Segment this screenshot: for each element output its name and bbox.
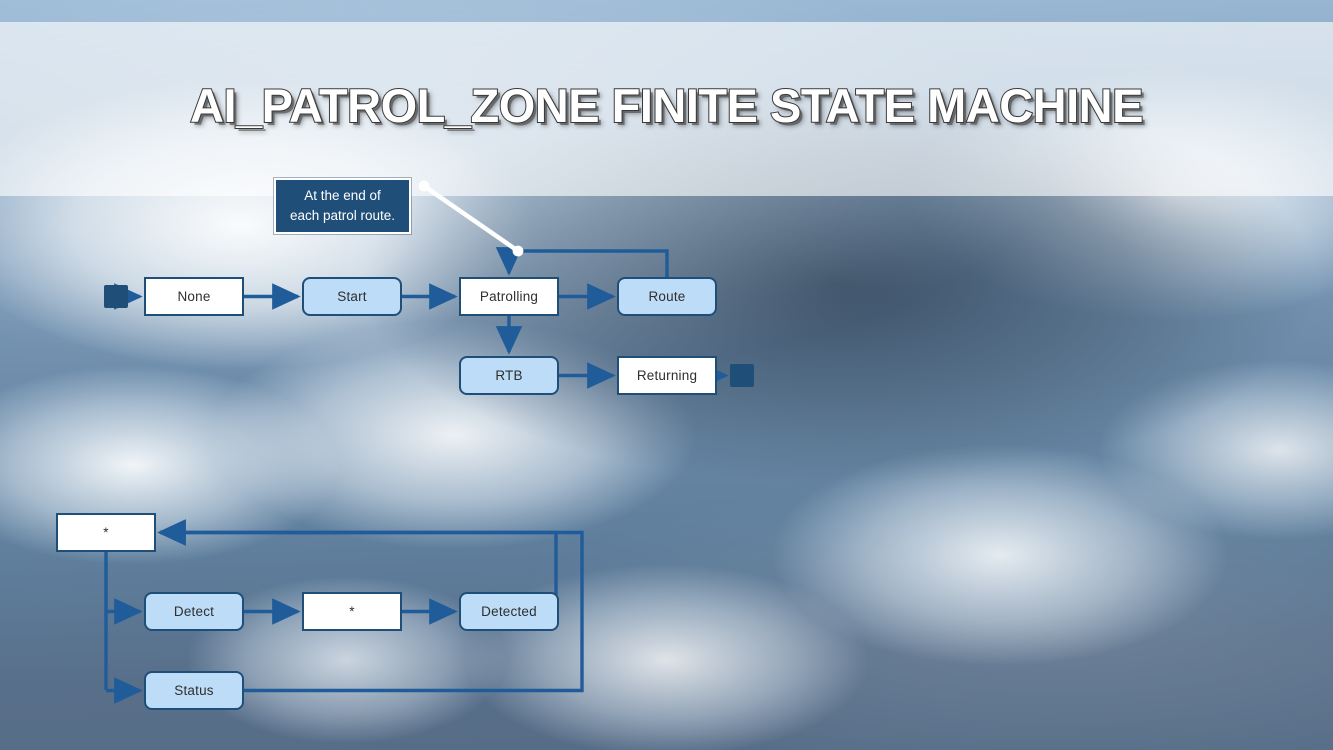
state-label: Status bbox=[174, 683, 213, 698]
exit-marker bbox=[730, 364, 754, 387]
state-label: Route bbox=[648, 289, 685, 304]
state-label: Detected bbox=[481, 604, 537, 619]
entry-marker bbox=[104, 285, 128, 308]
page-title: AI_PATROL_ZONE FINITE STATE MACHINE bbox=[0, 78, 1333, 133]
state-label: Patrolling bbox=[480, 289, 538, 304]
state-label: Returning bbox=[637, 368, 697, 383]
state-label: RTB bbox=[495, 368, 522, 383]
state-node-none[interactable]: None bbox=[144, 277, 244, 316]
state-node-any-state[interactable]: * bbox=[56, 513, 156, 552]
state-node-route[interactable]: Route bbox=[617, 277, 717, 316]
state-node-start[interactable]: Start bbox=[302, 277, 402, 316]
state-node-detected[interactable]: Detected bbox=[459, 592, 559, 631]
state-node-status[interactable]: Status bbox=[144, 671, 244, 710]
state-label: Detect bbox=[174, 604, 214, 619]
callout-note[interactable]: At the end of each patrol route. bbox=[274, 178, 411, 234]
callout-line-2: each patrol route. bbox=[284, 206, 401, 226]
state-label: * bbox=[103, 525, 108, 540]
state-label: Start bbox=[337, 289, 367, 304]
state-node-any-target[interactable]: * bbox=[302, 592, 402, 631]
callout-line-1: At the end of bbox=[284, 186, 401, 206]
state-node-patrolling[interactable]: Patrolling bbox=[459, 277, 559, 316]
state-label: * bbox=[349, 604, 354, 619]
state-node-detect[interactable]: Detect bbox=[144, 592, 244, 631]
state-label: None bbox=[177, 289, 210, 304]
state-node-returning[interactable]: Returning bbox=[617, 356, 717, 395]
slide-canvas: AI_PATROL_ZONE FINITE STATE MACHINE bbox=[0, 0, 1333, 750]
state-node-rtb[interactable]: RTB bbox=[459, 356, 559, 395]
